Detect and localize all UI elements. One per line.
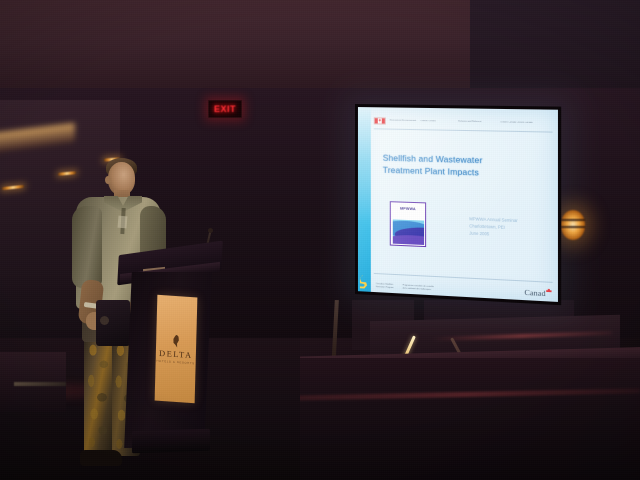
delta-hotel-sign: DELTA HOTELS & RESORTS — [155, 295, 198, 404]
wall-sconce-light — [561, 210, 585, 240]
stage-platform — [288, 358, 640, 480]
footer-right-line-2: de la salubrité des mollusques — [403, 288, 434, 293]
microphone-icon — [208, 228, 213, 233]
speaker-sleeve-left — [72, 206, 102, 288]
mpwwa-logo-text: MPWWA — [394, 206, 421, 211]
delta-tagline-label: HOTELS & RESORTS — [157, 359, 195, 365]
exit-sign-label: EXIT — [214, 104, 236, 114]
agency-line: Environment Environnement — [390, 119, 416, 122]
photograph-scene: EXIT Environment Environnement Canada Ca… — [0, 0, 640, 480]
speaker-leg-left — [84, 336, 114, 454]
presentation-slide: Environment Environnement Canada Canada … — [358, 107, 558, 302]
maple-leaf-icon — [378, 118, 381, 122]
sconce-slat — [561, 226, 585, 228]
canada-flag-icon — [374, 117, 386, 124]
delta-logo-icon — [171, 334, 182, 348]
canada-wordmark: Canad — [524, 288, 551, 299]
mpwwa-logo-inner: MPWWA — [392, 204, 423, 245]
agency-line: Canada Canada — [420, 120, 435, 123]
speaker-shoe — [80, 450, 122, 466]
speaker-ear — [105, 176, 111, 184]
slide-subtitle: MPWWA Annual Seminar Charlottetown, PEI … — [469, 215, 553, 240]
slide-title: Shellfish and Wastewater Treatment Plant… — [383, 153, 538, 181]
agency-line: Oceans Canada Océans Canada — [500, 121, 532, 125]
logo-waves-icon — [392, 219, 423, 245]
slide-accent-band — [358, 107, 371, 292]
projection-screen: Environment Environnement Canada Canada … — [355, 104, 561, 305]
shellfish-program-icon — [359, 275, 370, 289]
podium-base — [132, 429, 210, 454]
camo-pattern — [84, 336, 114, 454]
sconce-slat — [561, 219, 585, 221]
delta-brand-label: DELTA — [159, 348, 193, 359]
mpwwa-logo: MPWWA — [390, 201, 426, 247]
slide-footer-text: Canadian Shellfish Sanitation Program Pr… — [376, 283, 434, 292]
speaker-name-badge — [117, 216, 127, 229]
canada-flag-accent-icon — [546, 289, 551, 292]
exit-sign: EXIT — [208, 100, 242, 118]
slide-footer-rule — [374, 272, 553, 281]
foreground-rail — [14, 382, 66, 386]
agency-line: Fisheries and Pêches et — [458, 120, 481, 123]
equipment-knob — [100, 316, 109, 325]
footer-left-line-2: Sanitation Program — [376, 286, 394, 290]
